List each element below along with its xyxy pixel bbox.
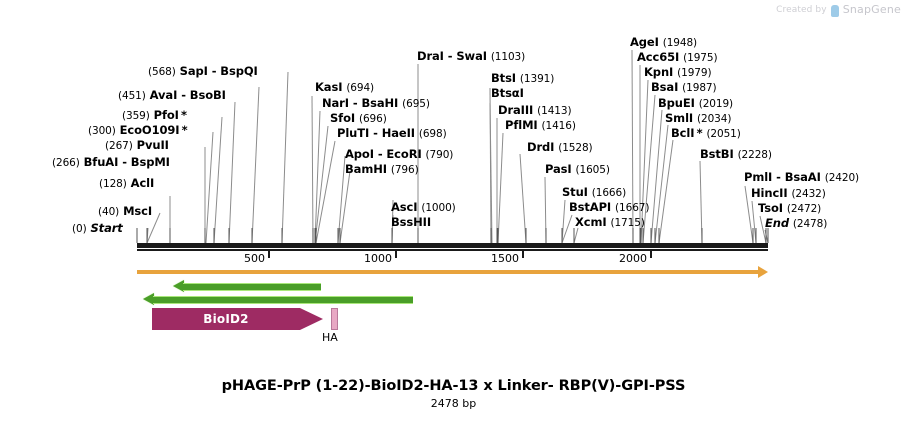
site-position-tsoi: (2472) <box>787 203 821 215</box>
site-position-pvuii: (267) <box>105 140 133 152</box>
site-label-tsoi[interactable]: TsoI (2472) <box>758 201 821 215</box>
feature-arrow-green-upper[interactable] <box>173 280 321 292</box>
feature-arrow-green-lower[interactable] <box>143 293 413 305</box>
site-name-drai: DraI <box>417 49 444 63</box>
site-name-btsai: BtsαI <box>491 86 524 100</box>
site-position-pluti: (698) <box>419 128 447 140</box>
site-name-bsaai: BsaAI <box>785 170 821 184</box>
star-marker-pfoi: * <box>179 108 187 122</box>
site-name-bstbi: BstBI <box>700 147 734 161</box>
site-name-pvuii: PvuII <box>137 138 169 152</box>
site-name-acli: AclI <box>131 176 155 190</box>
site-position-sapi: (568) <box>148 66 176 78</box>
site-position-kasi: (694) <box>346 82 374 94</box>
site-name-pfoi: PfoI <box>154 108 179 122</box>
site-label-sfoi[interactable]: SfoI (696) <box>330 111 387 125</box>
star-marker-bcli: * <box>694 126 702 140</box>
site-position-acc65i: (1975) <box>683 52 717 64</box>
site-name-kasi: KasI <box>315 80 342 94</box>
site-position-sfoi: (696) <box>359 113 387 125</box>
site-label-avai[interactable]: (451) AvaI - BsoBI <box>118 88 226 102</box>
site-position-pmli: (2420) <box>825 172 859 184</box>
site-name-smli: SmlI <box>665 111 693 125</box>
site-label-apoi[interactable]: ApoI - EcoRI (790) <box>345 147 453 161</box>
site-name-bamhi: BamHI <box>345 162 387 176</box>
site-label-end[interactable]: End (2478) <box>765 216 827 230</box>
ruler-tick-2000 <box>650 251 652 258</box>
site-name-bsahi: BsaHI <box>361 96 398 110</box>
site-name-ecori: EcoRI <box>386 147 421 161</box>
site-position-end: (2478) <box>793 218 827 230</box>
site-position-bcli: (2051) <box>706 128 740 140</box>
feature-arrow-bioid2-head-icon <box>300 308 323 330</box>
site-label-asci[interactable]: AscI (1000) <box>391 200 456 214</box>
site-name-msci: MscI <box>123 204 152 218</box>
site-label-bamhi[interactable]: BamHI (796) <box>345 162 419 176</box>
site-label-acli[interactable]: (128) AclI <box>99 176 154 190</box>
feature-arrow-green-lower-body <box>153 296 413 304</box>
site-label-pfoi[interactable]: (359) PfoI * <box>122 108 187 122</box>
ruler-tick-1000 <box>395 251 397 258</box>
site-name-bspmi: BspMI <box>131 155 170 169</box>
ruler-tick-1500 <box>522 251 524 258</box>
site-position-drai: (1103) <box>491 51 525 63</box>
site-name-bcli: BclI <box>671 126 694 140</box>
site-name-swai: SwaI <box>456 49 487 63</box>
site-label-kpni[interactable]: KpnI (1979) <box>644 65 711 79</box>
site-label-bstapi[interactable]: BstAPI (1667) <box>569 200 649 214</box>
site-position-hincii: (2432) <box>791 188 825 200</box>
site-name-haeii: HaeII <box>382 126 415 140</box>
site-name-bsshii: BssHII <box>391 215 431 229</box>
sequence-backbone[interactable] <box>137 243 768 248</box>
site-position-avai: (451) <box>118 90 146 102</box>
site-name-drdi: DrdI <box>527 140 554 154</box>
site-label-pflmi[interactable]: PflMI (1416) <box>505 118 576 132</box>
feature-arrow-full-length-head-icon <box>758 266 768 278</box>
feature-label-bioid2: BioID2 <box>152 308 300 330</box>
plasmid-size-label: 2478 bp <box>0 397 907 410</box>
site-position-smli: (2034) <box>697 113 731 125</box>
site-label-stui[interactable]: StuI (1666) <box>562 185 626 199</box>
site-label-bsai[interactable]: BsaI (1987) <box>651 80 716 94</box>
site-position-start: (0) <box>72 223 87 235</box>
site-label-draiii[interactable]: DraIII (1413) <box>498 103 571 117</box>
site-label-acc65i[interactable]: Acc65I (1975) <box>637 50 717 64</box>
ruler-tick-500 <box>268 251 270 258</box>
site-position-pasi: (1605) <box>576 164 610 176</box>
site-name-tsoi: TsoI <box>758 201 783 215</box>
site-name-avai: AvaI <box>150 88 178 102</box>
site-label-drai[interactable]: DraI - SwaI (1103) <box>417 49 525 63</box>
feature-arrow-green-upper-body <box>183 283 321 291</box>
site-label-kasi[interactable]: KasI (694) <box>315 80 374 94</box>
site-name-asci: AscI <box>391 200 417 214</box>
site-name-pflmi: PflMI <box>505 118 538 132</box>
site-position-agei: (1948) <box>663 37 697 49</box>
site-name-nari: NarI <box>322 96 349 110</box>
site-position-btsi: (1391) <box>520 73 554 85</box>
site-label-bcli[interactable]: BclI * (2051) <box>671 126 741 140</box>
star-marker-ecoo109i: * <box>179 123 187 137</box>
site-label-msci[interactable]: (40) MscI <box>98 204 152 218</box>
feature-label-ha: HA <box>322 331 338 344</box>
site-label-agei[interactable]: AgeI (1948) <box>630 35 697 49</box>
site-label-pluti[interactable]: PluTI - HaeII (698) <box>337 126 447 140</box>
site-label-drdi[interactable]: DrdI (1528) <box>527 140 593 154</box>
site-name-sapi: SapI <box>180 64 208 78</box>
site-label-smli[interactable]: SmlI (2034) <box>665 111 731 125</box>
site-label-pasi[interactable]: PasI (1605) <box>545 162 610 176</box>
ruler-label-2000: 2000 <box>619 252 650 265</box>
site-position-bstbi: (2228) <box>738 149 772 161</box>
site-position-bsai: (1987) <box>682 82 716 94</box>
ruler-label-1000: 1000 <box>364 252 395 265</box>
site-label-pmli[interactable]: PmlI - BsaAI (2420) <box>744 170 859 184</box>
feature-block-ha[interactable] <box>331 308 338 330</box>
title-block: pHAGE-PrP (1-22)-BioID2-HA-13 x Linker- … <box>0 378 907 410</box>
site-position-drdi: (1528) <box>558 142 592 154</box>
site-position-pflmi: (1416) <box>542 120 576 132</box>
feature-arrow-bioid2[interactable]: BioID2 <box>152 308 323 330</box>
site-name-btsi: BtsI <box>491 71 516 85</box>
site-name-draiii: DraIII <box>498 103 533 117</box>
site-name-xcmi: XcmI <box>575 215 607 229</box>
site-position-nari: (695) <box>402 98 430 110</box>
site-label-xcmi[interactable]: XcmI (1715) <box>575 215 645 229</box>
page-title: pHAGE-PrP (1-22)-BioID2-HA-13 x Linker- … <box>0 378 907 394</box>
site-name-kpni: KpnI <box>644 65 673 79</box>
site-name-agei: AgeI <box>630 35 659 49</box>
site-label-sapi[interactable]: (568) SapI - BspQI <box>148 64 258 78</box>
ruler-label-500: 500 <box>244 252 268 265</box>
site-label-nari[interactable]: NarI - BsaHI (695) <box>322 96 430 110</box>
site-position-bpuei: (2019) <box>699 98 733 110</box>
site-position-ecoo109i: (300) <box>88 125 116 137</box>
site-label-bpuei[interactable]: BpuEI (2019) <box>658 96 733 110</box>
site-name-ecoo109i: EcoO109I <box>120 123 180 137</box>
site-position-apoi: (790) <box>426 149 454 161</box>
sequence-backbone-shadow <box>137 249 768 251</box>
site-label-btsi[interactable]: BtsI (1391) <box>491 71 554 85</box>
site-label-start[interactable]: (0) Start <box>72 221 123 235</box>
site-position-draiii: (1413) <box>537 105 571 117</box>
site-position-acli: (128) <box>99 178 127 190</box>
site-position-xcmi: (1715) <box>610 217 644 229</box>
site-name-end: End <box>765 216 789 230</box>
site-name-bfuai: BfuAI <box>84 155 119 169</box>
site-label-btsai[interactable]: BtsαI <box>491 86 524 100</box>
plasmid-map: (0) Start (40) MscI (128) AclI (266) Bfu… <box>0 0 907 422</box>
site-label-bsshii[interactable]: BssHII <box>391 215 431 229</box>
feature-arrow-full-length[interactable] <box>137 266 768 278</box>
site-name-acc65i: Acc65I <box>637 50 679 64</box>
site-position-pfoi: (359) <box>122 110 150 122</box>
site-position-msci: (40) <box>98 206 119 218</box>
site-name-bsai: BsaI <box>651 80 678 94</box>
site-label-ecoo109i[interactable]: (300) EcoO109I * <box>88 123 188 137</box>
site-label-hincii[interactable]: HincII (2432) <box>751 186 826 200</box>
ruler-label-1500: 1500 <box>491 252 522 265</box>
site-name-sfoi: SfoI <box>330 111 355 125</box>
site-name-bstapi: BstAPI <box>569 200 611 214</box>
feature-arrow-full-length-body <box>137 270 759 274</box>
site-name-stui: StuI <box>562 185 588 199</box>
site-label-bstbi[interactable]: BstBI (2228) <box>700 147 772 161</box>
site-name-hincii: HincII <box>751 186 788 200</box>
site-position-stui: (1666) <box>592 187 626 199</box>
site-name-pasi: PasI <box>545 162 572 176</box>
site-name-pmli: PmlI <box>744 170 772 184</box>
site-name-bspqi: BspQI <box>220 64 257 78</box>
site-position-kpni: (1979) <box>677 67 711 79</box>
site-name-start: Start <box>90 221 122 235</box>
site-name-pluti: PluTI <box>337 126 369 140</box>
site-name-apoi: ApoI <box>345 147 374 161</box>
site-name-bpuei: BpuEI <box>658 96 695 110</box>
site-position-bamhi: (796) <box>391 164 419 176</box>
site-position-asci: (1000) <box>421 202 455 214</box>
site-label-pvuii[interactable]: (267) PvuII <box>105 138 169 152</box>
site-position-bstapi: (1667) <box>615 202 649 214</box>
site-position-bfuai: (266) <box>52 157 80 169</box>
site-name-bsobi: BsoBI <box>190 88 226 102</box>
site-label-bfuai[interactable]: (266) BfuAI - BspMI <box>52 155 170 169</box>
